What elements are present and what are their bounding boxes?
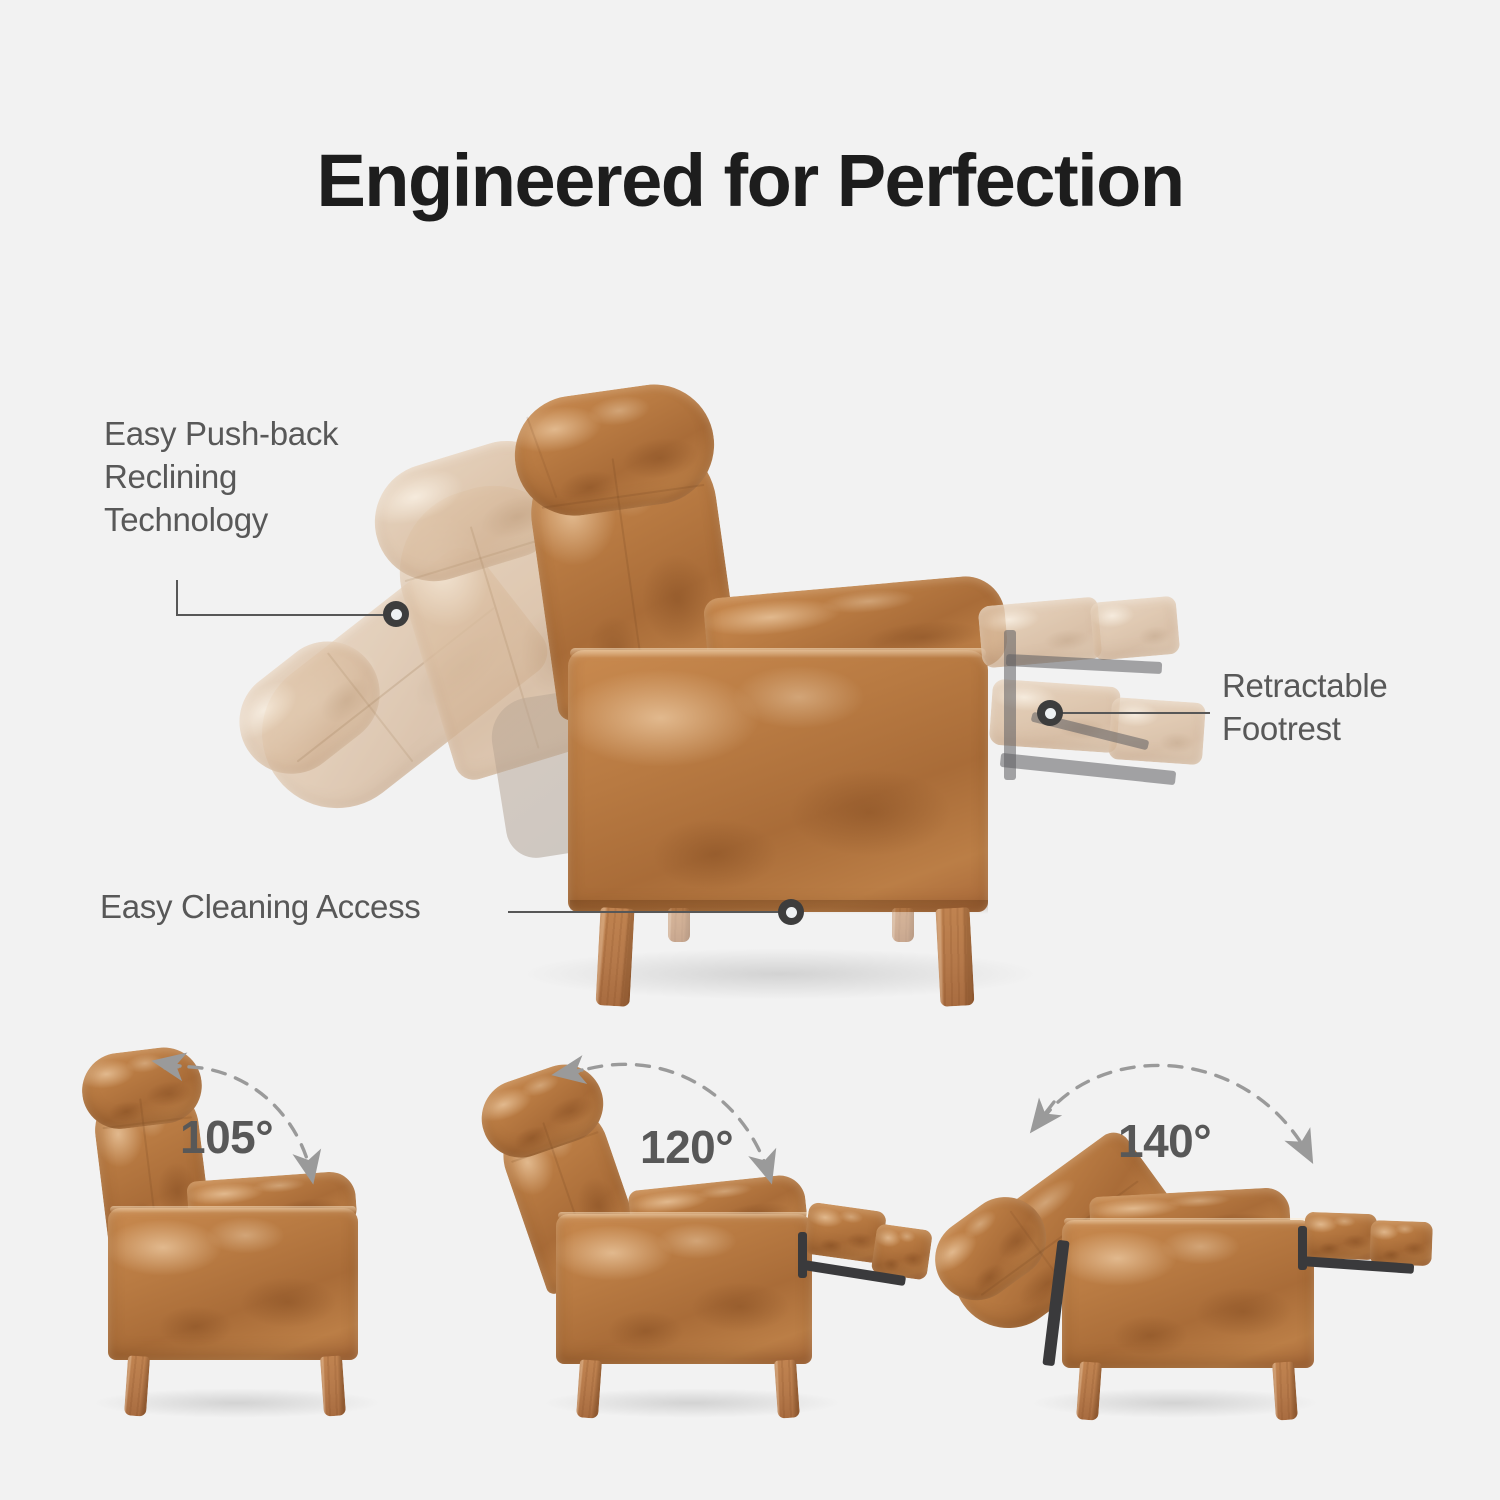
chair-leg-back [935, 907, 974, 1007]
leader-line-cleaning [508, 911, 780, 913]
marker-footrest [1037, 700, 1063, 726]
variant-105: 105° [30, 1010, 500, 1480]
page-title: Engineered for Perfection [0, 138, 1500, 223]
callout-label-footrest: Retractable Footrest [1222, 664, 1387, 750]
ghost-footrest-mech-link [1004, 630, 1016, 780]
hero-product-diagram: Easy Push-back Reclining Technology Retr… [0, 330, 1500, 1010]
angle-label-120: 120° [640, 1120, 733, 1174]
variant-140: 140° [950, 1010, 1420, 1480]
chair-arm-panel [568, 650, 988, 912]
angle-label-105: 105° [180, 1110, 273, 1164]
variant-120: 120° [490, 1010, 960, 1480]
chair-leg-inner [668, 908, 690, 942]
chair-leg-inner-2 [892, 908, 914, 942]
chair-leg-front [595, 907, 634, 1007]
recline-arc-120 [490, 1010, 960, 1480]
callout-label-pushback: Easy Push-back Reclining Technology [104, 412, 338, 541]
recline-arc-105 [30, 1010, 500, 1480]
recline-angle-row: 105° [0, 1010, 1500, 1500]
marker-pushback [383, 601, 409, 627]
angle-label-140: 140° [1118, 1114, 1211, 1168]
recline-arc-140 [950, 1010, 1420, 1480]
callout-label-cleaning: Easy Cleaning Access [100, 885, 421, 928]
leader-line-pushback [176, 580, 406, 616]
leader-line-footrest [1062, 712, 1210, 714]
chair-arm-top-edge [570, 648, 986, 658]
marker-cleaning [778, 899, 804, 925]
